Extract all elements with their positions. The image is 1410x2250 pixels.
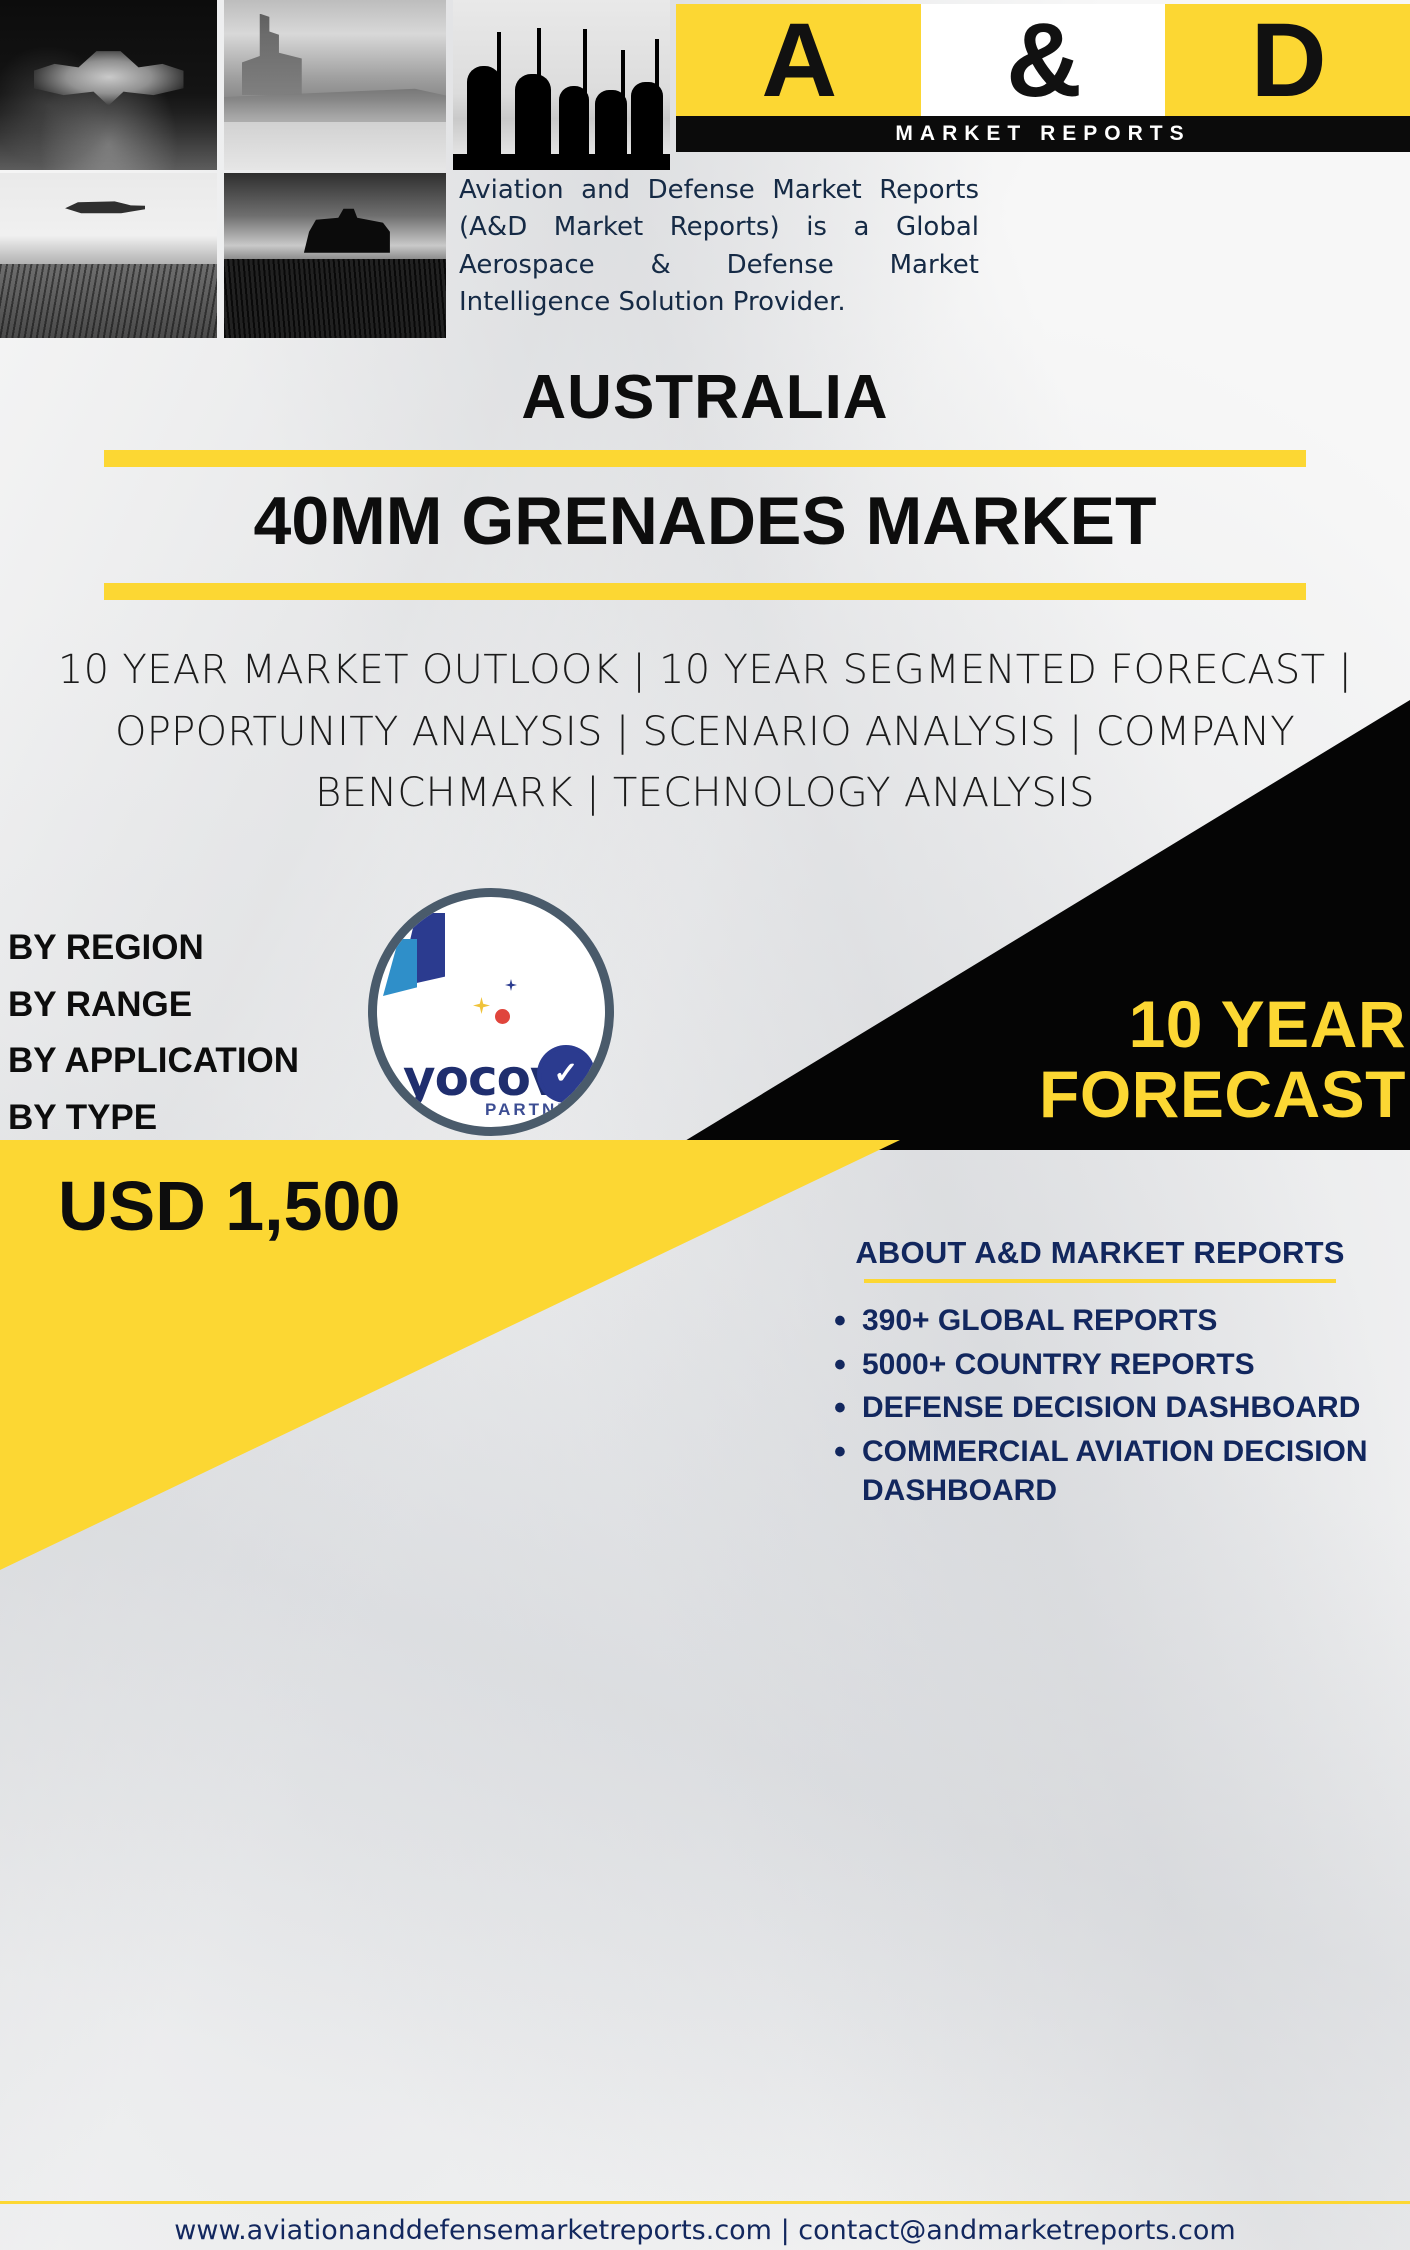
title-country: AUSTRALIA — [0, 365, 1410, 430]
yocova-partner-label: PARTNER — [485, 1100, 587, 1120]
logo-letter-a: A — [676, 4, 921, 116]
report-title-block: AUSTRALIA 40MM GRENADES MARKET — [0, 365, 1410, 618]
title-rule-top — [104, 450, 1306, 467]
segment-item-region: BY REGION — [8, 920, 299, 977]
segment-item-application: BY APPLICATION — [8, 1033, 299, 1090]
about-heading-rule — [864, 1279, 1336, 1283]
dot-red-icon — [495, 1009, 510, 1024]
logo-ampersand: & — [921, 4, 1166, 116]
about-bullet-global-reports: 390+ GLOBAL REPORTS — [820, 1301, 1380, 1341]
title-rule-bottom — [104, 583, 1306, 600]
about-bullet-list: 390+ GLOBAL REPORTS 5000+ COUNTRY REPORT… — [820, 1301, 1380, 1511]
helicopter-photo — [0, 173, 217, 338]
armored-vehicle-photo — [224, 173, 446, 338]
footer-divider — [0, 2201, 1410, 2204]
about-bullet-country-reports: 5000+ COUNTRY REPORTS — [820, 1345, 1380, 1385]
about-panel: ABOUT A&D MARKET REPORTS 390+ GLOBAL REP… — [820, 1235, 1380, 1515]
logo-tagline: MARKET REPORTS — [676, 116, 1410, 152]
sparkle-yellow-icon — [473, 997, 490, 1014]
yocova-mark-light-icon — [383, 939, 417, 1001]
forecast-line-1: 10 YEAR — [650, 990, 1406, 1060]
about-bullet-defense-dashboard: DEFENSE DECISION DASHBOARD — [820, 1388, 1380, 1428]
report-scope-text: 10 YEAR MARKET OUTLOOK | 10 YEAR SEGMENT… — [40, 640, 1370, 825]
title-main: 40MM GRENADES MARKET — [0, 479, 1410, 565]
soldiers-silhouette-photo — [453, 0, 670, 170]
logo-letters: A & D — [676, 4, 1410, 116]
footer-contact: www.aviationanddefensemarketreports.com … — [0, 2215, 1410, 2246]
price-label: USD 1,500 — [58, 1166, 400, 1246]
about-heading: ABOUT A&D MARKET REPORTS — [820, 1235, 1380, 1271]
fighter-jet-photo — [0, 0, 217, 170]
aircraft-carrier-photo — [224, 0, 446, 170]
verified-check-icon: ✓ — [537, 1045, 595, 1103]
sparkle-navy-icon — [505, 979, 517, 991]
forecast-line-2: FORECAST — [650, 1060, 1406, 1130]
segment-item-range: BY RANGE — [8, 977, 299, 1034]
intro-paragraph: Aviation and Defense Market Reports (A&D… — [459, 172, 979, 322]
yocova-partner-badge: yocova PARTNER ✓ — [368, 888, 614, 1136]
segment-item-type: BY TYPE — [8, 1090, 299, 1147]
segmentation-list: BY REGION BY RANGE BY APPLICATION BY TYP… — [8, 920, 299, 1147]
check-glyph: ✓ — [553, 1059, 578, 1089]
brand-logo: A & D MARKET REPORTS — [676, 4, 1410, 152]
forecast-callout: 10 YEAR FORECAST — [650, 990, 1410, 1130]
logo-letter-d: D — [1165, 4, 1410, 116]
poster-root: A & D MARKET REPORTS Aviation and Defens… — [0, 0, 1410, 2250]
about-bullet-commercial-dashboard: COMMERCIAL AVIATION DECISION DASHBOARD — [820, 1432, 1380, 1511]
